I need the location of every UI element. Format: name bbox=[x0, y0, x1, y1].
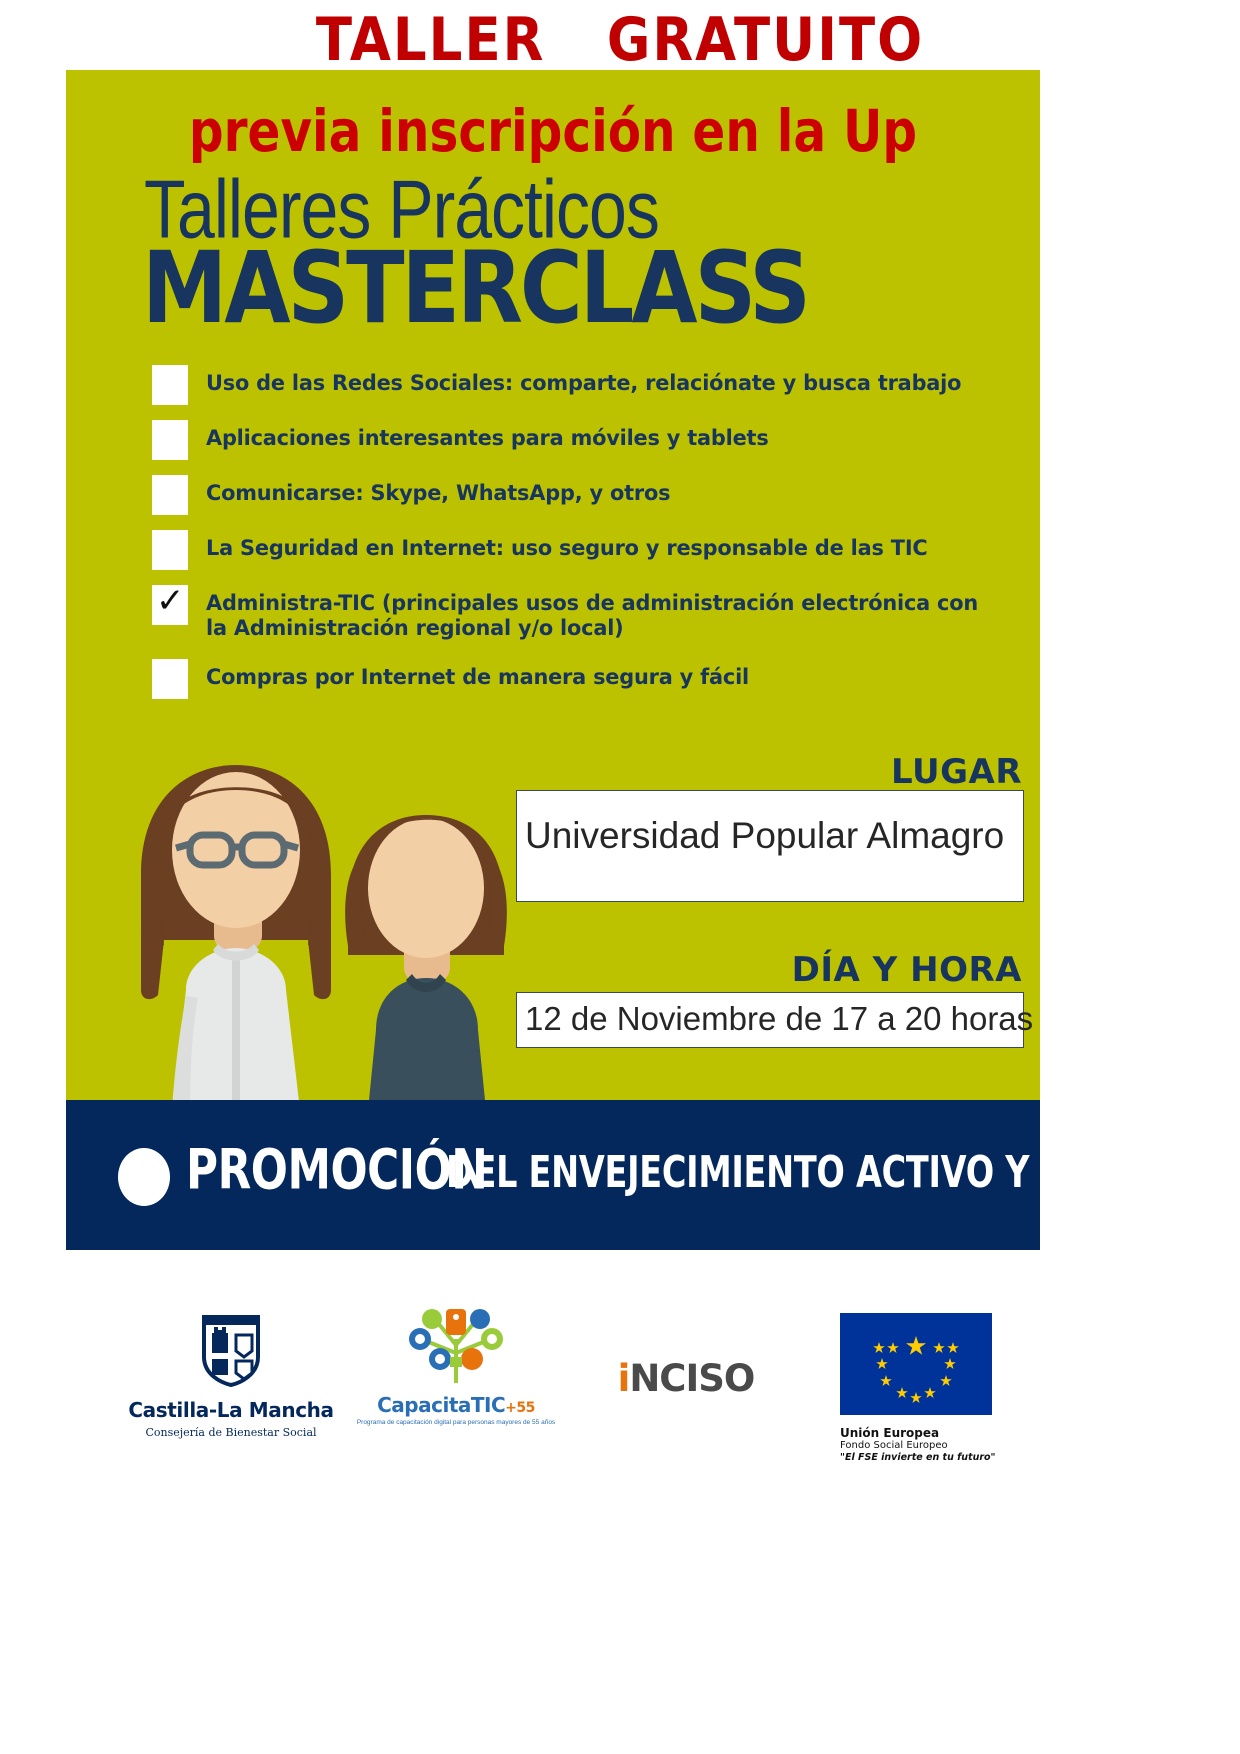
place-value: Universidad Popular Almagro bbox=[525, 815, 1004, 857]
checkbox-icon[interactable] bbox=[152, 530, 188, 570]
checklist-item[interactable]: Aplicaciones interesantes para móviles y… bbox=[152, 420, 1022, 460]
checkbox-icon-checked[interactable]: ✓ bbox=[152, 585, 188, 625]
checklist-item-label: Comunicarse: Skype, WhatsApp, y otros bbox=[206, 475, 670, 506]
checkbox-icon[interactable] bbox=[152, 659, 188, 699]
logo-castilla-la-mancha: Castilla-La Mancha Consejería de Bienest… bbox=[116, 1313, 346, 1439]
datetime-value: 12 de Noviembre de 17 a 20 horas bbox=[525, 1000, 1033, 1038]
eu-line1: Unión Europea bbox=[826, 1426, 1006, 1440]
logo-inciso-text: iNCISO bbox=[586, 1357, 786, 1400]
eu-line3: "El FSE invierte en tu futuro" bbox=[826, 1452, 1006, 1463]
datetime-value-box[interactable]: 12 de Noviembre de 17 a 20 horas bbox=[516, 992, 1024, 1048]
castilla-la-mancha-shield-icon bbox=[198, 1313, 264, 1387]
free-workshop-headline: TALLER GRATUITO bbox=[0, 6, 1240, 74]
place-label: LUGAR bbox=[891, 752, 1022, 792]
logo-capacita-text: Capacita bbox=[377, 1393, 471, 1417]
banner-strong-text: PROMOCIÓN bbox=[186, 1138, 487, 1203]
checklist-item-label: Uso de las Redes Sociales: comparte, rel… bbox=[206, 365, 961, 396]
registration-note: previa inscripción en la Up bbox=[81, 98, 1026, 165]
checklist-item[interactable]: Comunicarse: Skype, WhatsApp, y otros bbox=[152, 475, 1022, 515]
checklist-item[interactable]: Compras por Internet de manera segura y … bbox=[152, 659, 1022, 699]
eu-line2: Fondo Social Europeo bbox=[826, 1440, 1006, 1452]
datetime-label: DÍA Y HORA bbox=[792, 950, 1022, 990]
checklist-item-label: Administra-TIC (principales usos de admi… bbox=[206, 585, 982, 641]
logo-european-union: Unión Europea Fondo Social Europeo "El F… bbox=[826, 1313, 1006, 1463]
promotion-banner: PROMOCIÓN DEL ENVEJECIMIENTO ACTIVO Y SA… bbox=[66, 1100, 1040, 1250]
logo-castilla-subtitle: Consejería de Bienestar Social bbox=[116, 1426, 346, 1439]
checkbox-icon[interactable] bbox=[152, 365, 188, 405]
logo-capacitatic: CapacitaTIC+55 Programa de capacitación … bbox=[356, 1305, 556, 1426]
poster-title-line2: MASTERCLASS bbox=[142, 230, 808, 346]
poster-body: previa inscripción en la Up Talleres Prá… bbox=[66, 70, 1040, 1250]
workshop-checklist: Uso de las Redes Sociales: comparte, rel… bbox=[152, 365, 1022, 714]
two-people-illustration bbox=[86, 740, 556, 1110]
footer-logos: Castilla-La Mancha Consejería de Bienest… bbox=[66, 1295, 1040, 1505]
checkbox-icon[interactable] bbox=[152, 475, 188, 515]
capacitatic-tree-icon bbox=[376, 1305, 536, 1391]
logo-tic-text: TIC bbox=[471, 1393, 505, 1417]
place-value-box[interactable]: Universidad Popular Almagro bbox=[516, 790, 1024, 902]
banner-rest-text: DEL ENVEJECIMIENTO ACTIVO Y SALUDABLE bbox=[446, 1148, 1040, 1198]
checklist-item-label: Aplicaciones interesantes para móviles y… bbox=[206, 420, 769, 451]
checkbox-icon[interactable] bbox=[152, 420, 188, 460]
logo-capacitatic-name: CapacitaTIC+55 bbox=[356, 1393, 556, 1417]
checklist-item-label: Compras por Internet de manera segura y … bbox=[206, 659, 749, 690]
checklist-item[interactable]: Uso de las Redes Sociales: comparte, rel… bbox=[152, 365, 1022, 405]
checklist-item-label: La Seguridad en Internet: uso seguro y r… bbox=[206, 530, 928, 561]
eu-flag-icon bbox=[840, 1313, 992, 1415]
logo-capacitatic-subtitle: Programa de capacitación digital para pe… bbox=[356, 1419, 556, 1426]
logo-castilla-name: Castilla-La Mancha bbox=[116, 1398, 346, 1422]
logo-plus55-text: +55 bbox=[505, 1400, 535, 1416]
checklist-item[interactable]: La Seguridad en Internet: uso seguro y r… bbox=[152, 530, 1022, 570]
circle-icon bbox=[118, 1148, 170, 1206]
logo-inciso: iNCISO bbox=[586, 1357, 786, 1400]
check-mark-icon: ✓ bbox=[156, 581, 185, 621]
checklist-item-selected[interactable]: ✓ Administra-TIC (principales usos de ad… bbox=[152, 585, 1022, 641]
